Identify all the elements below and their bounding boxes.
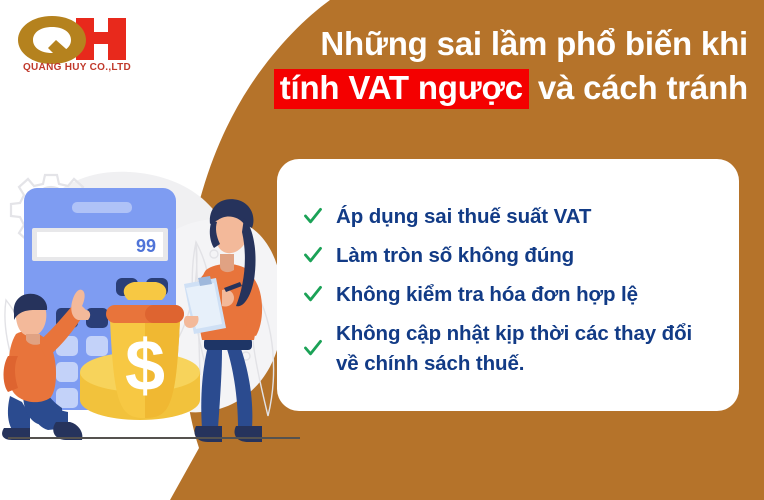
finance-illustration: 99	[0, 150, 300, 450]
logo-letter-q	[18, 16, 86, 64]
list-item-label: Không cập nhật kịp thời các thay đổi về …	[336, 319, 713, 379]
title-line-1: Những sai lầm phổ biến khi	[248, 22, 748, 66]
title-highlight: tính VAT ngược	[274, 69, 529, 109]
calculator-display-value: 99	[136, 236, 156, 256]
list-item: Áp dụng sai thuế suất VAT	[303, 202, 713, 232]
list-item: Không kiểm tra hóa đơn hợp lệ	[303, 280, 713, 310]
check-icon	[303, 284, 323, 304]
check-icon	[303, 338, 323, 358]
bullet-card: Áp dụng sai thuế suất VAT Làm tròn số kh…	[277, 159, 739, 411]
list-item-label: Áp dụng sai thuế suất VAT	[336, 202, 591, 232]
banner-canvas: 99	[0, 0, 764, 500]
logo-text: QUANG HUY CO.,LTD	[23, 62, 131, 72]
check-icon	[303, 245, 323, 265]
check-icon	[303, 206, 323, 226]
company-logo: QUANG HUY CO.,LTD	[12, 10, 142, 72]
list-item-label: Làm tròn số không đúng	[336, 241, 574, 271]
list-item-label: Không kiểm tra hóa đơn hợp lệ	[336, 280, 638, 310]
list-item: Không cập nhật kịp thời các thay đổi về …	[303, 319, 713, 379]
title-line-2: tính VAT ngược và cách tránh	[248, 66, 748, 110]
title-block: Những sai lầm phổ biến khi tính VAT ngượ…	[248, 22, 748, 110]
ground-line	[8, 437, 300, 439]
title-line-2-rest: và cách tránh	[538, 69, 748, 106]
list-item: Làm tròn số không đúng	[303, 241, 713, 271]
money-bag-dollar: $	[125, 326, 165, 406]
